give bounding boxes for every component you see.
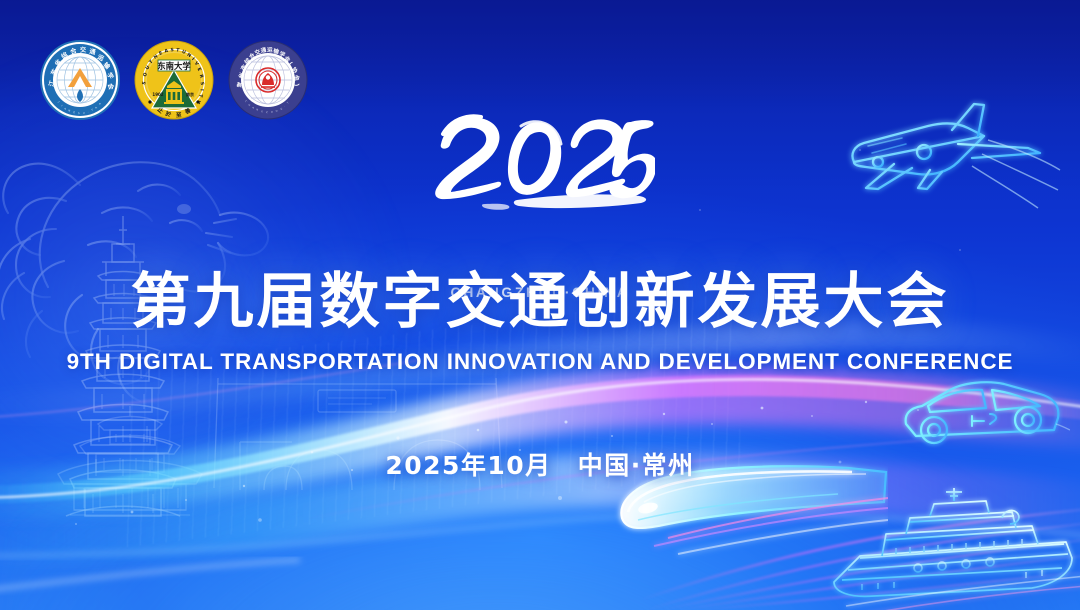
svg-text:南京: 南京 (186, 91, 194, 97)
cruise-ship-icon (826, 484, 1080, 610)
page-subtitle: 9TH DIGITAL TRANSPORTATION INNOVATION AN… (0, 349, 1080, 375)
svg-text:至: 至 (176, 111, 182, 119)
conference-poster: 江 苏 省 综 合 交 通 运 输 学 会 JI AN GS U· (0, 0, 1080, 610)
organizer-logos: 江 苏 省 综 合 交 通 运 输 学 会 JI AN GS U· (40, 40, 308, 120)
svg-text:S: S (170, 47, 173, 53)
year-brush-2025 (425, 104, 655, 214)
year-mark: CHANGZHOU·CHINA (0, 104, 1080, 219)
event-location: 中国·常州 (578, 451, 695, 480)
event-meta: 2025年10月中国·常州 (0, 446, 1080, 482)
event-date: 2025年10月 (385, 451, 551, 480)
page-title: 第九届数字交通创新发展大会 (0, 272, 1080, 332)
changzhou-transportation-society-logo: 常 州 市 综 合 交 通 运 输 学 会 ( 协 会 ) CH (228, 40, 308, 120)
southeast-university-logo: 东南大学 S O U T H E A S T U N I V E (134, 40, 214, 120)
svg-text:交: 交 (80, 46, 87, 54)
jiangsu-transportation-society-logo: 江 苏 省 综 合 交 通 运 输 学 会 JI AN GS U· (40, 40, 120, 120)
svg-text:1902: 1902 (152, 92, 163, 97)
svg-text:东南大学: 东南大学 (157, 61, 191, 71)
